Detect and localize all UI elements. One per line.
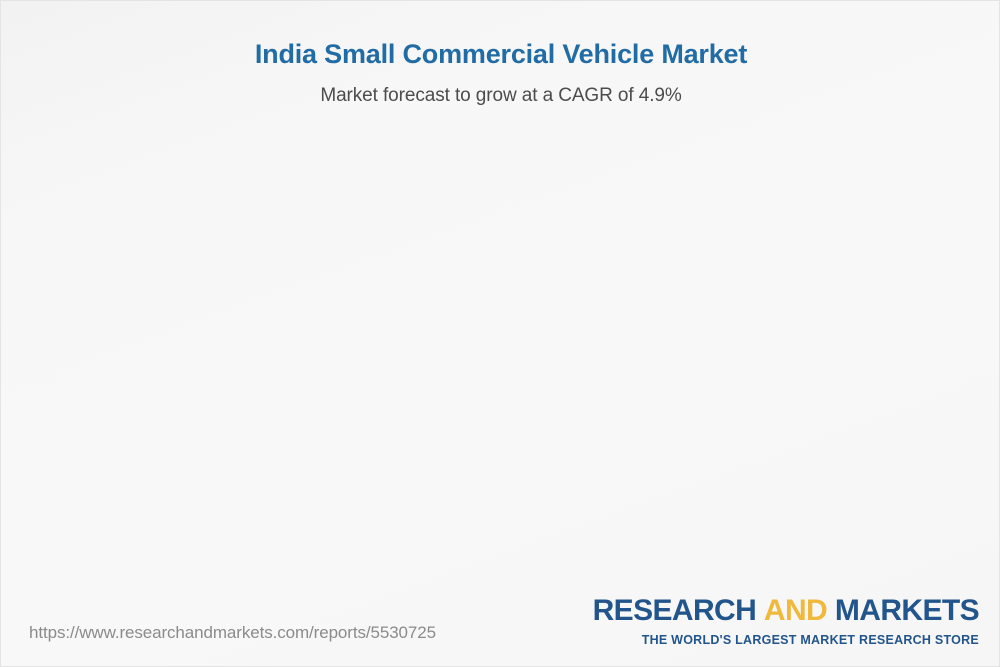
logo-wordmark: RESEARCH AND MARKETS <box>593 596 979 626</box>
chart-plot-area: USD 2,630.95 Million 2016 USD 4,256.93 M… <box>1 1 1000 601</box>
chart-footer: https://www.researchandmarkets.com/repor… <box>1 586 1000 666</box>
researchandmarkets-logo[interactable]: RESEARCH AND MARKETS THE WORLD'S LARGEST… <box>593 596 979 647</box>
logo-word-markets: MARKETS <box>835 594 979 627</box>
logo-tagline: THE WORLD'S LARGEST MARKET RESEARCH STOR… <box>593 626 979 647</box>
report-url[interactable]: https://www.researchandmarkets.com/repor… <box>29 623 436 643</box>
logo-word-research: RESEARCH <box>593 594 757 627</box>
chart-infographic: India Small Commercial Vehicle Market Ma… <box>0 0 1000 667</box>
logo-word-and: AND <box>764 594 827 627</box>
